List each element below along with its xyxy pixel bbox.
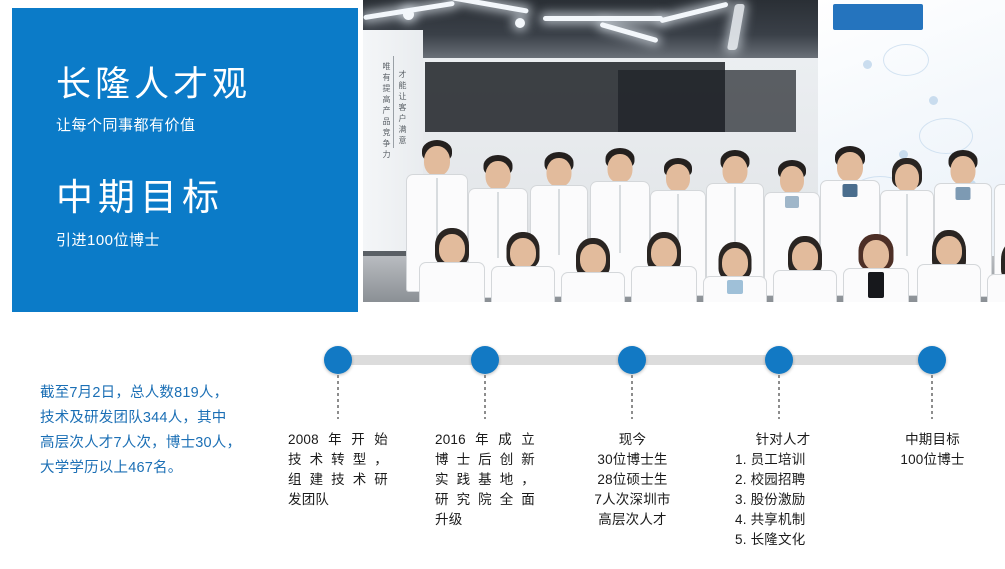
label-line: 2016年成立 — [435, 430, 535, 450]
timeline-connector — [337, 375, 339, 419]
label-line: 研究院全面 — [435, 490, 535, 510]
label-list-item: 5. 长隆文化 — [735, 530, 831, 550]
timeline-node-2016[interactable] — [471, 346, 499, 374]
label-line: 高层次人才 — [575, 510, 690, 530]
timeline-label-2008: 2008年开始 技术转型， 组建技术研 发团队 — [288, 430, 388, 510]
label-list-item: 2. 校园招聘 — [735, 470, 831, 490]
timeline-label-goal: 中期目标 100位博士 — [875, 430, 990, 470]
slide-root: 长隆人才观 让每个同事都有价值 中期目标 引进100位博士 唯有提高产品竞争力 … — [0, 0, 1005, 569]
timeline-connector — [484, 375, 486, 419]
timeline-label-2016: 2016年成立 博士后创新 实践基地， 研究院全面 升级 — [435, 430, 535, 530]
label-line: 30位博士生 — [575, 450, 690, 470]
timeline-node-talent[interactable] — [765, 346, 793, 374]
label-line: 7人次深圳市 — [575, 490, 690, 510]
timeline-label-talent: 针对人才 1. 员工培训 2. 校园招聘 3. 股份激励 4. 共享机制 5. … — [735, 430, 831, 550]
label-line: 升级 — [435, 510, 535, 530]
timeline-connector — [931, 375, 933, 419]
label-line: 中期目标 — [875, 430, 990, 450]
timeline-node-now[interactable] — [618, 346, 646, 374]
label-line: 发团队 — [288, 490, 388, 510]
label-heading: 针对人才 — [735, 430, 831, 450]
label-line: 100位博士 — [875, 450, 990, 470]
label-line: 28位硕士生 — [575, 470, 690, 490]
timeline-node-2008[interactable] — [324, 346, 352, 374]
label-line: 组建技术研 — [288, 470, 388, 490]
timeline-connector — [631, 375, 633, 419]
timeline-node-goal[interactable] — [918, 346, 946, 374]
timeline: 2008年开始 技术转型， 组建技术研 发团队 2016年成立 博士后创新 实践… — [0, 0, 1005, 569]
timeline-label-now: 现今 30位博士生 28位硕士生 7人次深圳市 高层次人才 — [575, 430, 690, 530]
label-list-item: 3. 股份激励 — [735, 490, 831, 510]
label-line: 实践基地， — [435, 470, 535, 490]
label-line: 技术转型， — [288, 450, 388, 470]
timeline-connector — [778, 375, 780, 419]
label-line: 博士后创新 — [435, 450, 535, 470]
label-line: 2008年开始 — [288, 430, 388, 450]
label-line: 现今 — [575, 430, 690, 450]
label-list-item: 1. 员工培训 — [735, 450, 831, 470]
label-list-item: 4. 共享机制 — [735, 510, 831, 530]
